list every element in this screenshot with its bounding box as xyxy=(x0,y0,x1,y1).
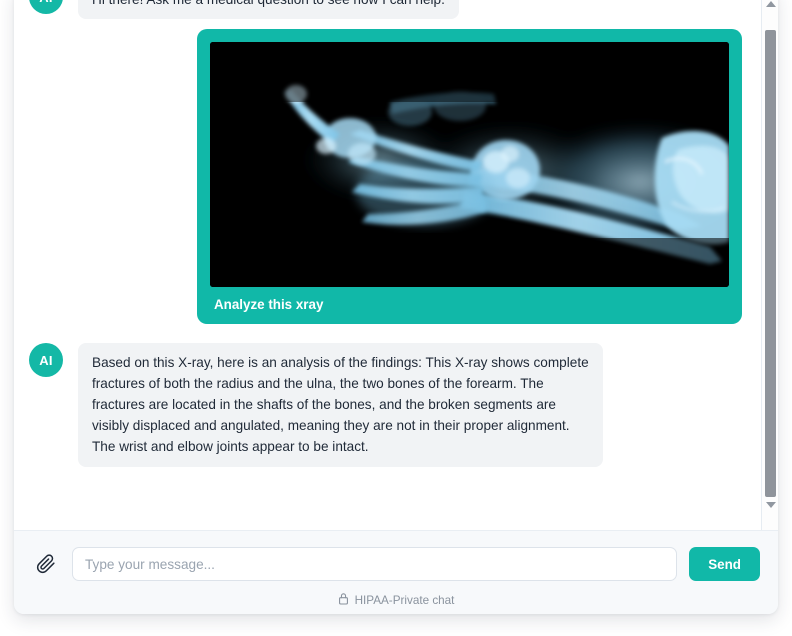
xray-image[interactable] xyxy=(210,42,729,287)
chat-window: AI Hi there! Ask me a medical question t… xyxy=(14,0,778,614)
scroll-up-icon[interactable] xyxy=(762,0,778,12)
scrollbar-thumb[interactable] xyxy=(765,30,776,497)
message-text: Based on this X-ray, here is an analysis… xyxy=(78,343,603,467)
attachment-caption: Analyze this xray xyxy=(210,287,729,324)
messages-list: AI Hi there! Ask me a medical question t… xyxy=(14,0,758,481)
vertical-scrollbar[interactable] xyxy=(761,0,778,530)
privacy-note-row: HIPAA-Private chat xyxy=(32,592,760,608)
message-assistant-analysis: AI Based on this X-ray, here is an analy… xyxy=(14,343,758,467)
composer-row: Send xyxy=(32,547,760,581)
avatar: AI xyxy=(29,0,63,14)
search-input[interactable] xyxy=(72,547,677,581)
scroll-down-icon[interactable] xyxy=(762,497,778,513)
paperclip-icon[interactable] xyxy=(32,550,60,578)
message-text: Hi there! Ask me a medical question to s… xyxy=(78,0,459,19)
lock-icon xyxy=(338,592,349,608)
messages-scroll-area: AI Hi there! Ask me a medical question t… xyxy=(14,0,778,530)
avatar: AI xyxy=(29,343,63,377)
privacy-note-label: HIPAA-Private chat xyxy=(355,594,455,607)
composer: Send HIPAA-Private chat xyxy=(14,530,778,614)
image-attachment-card[interactable]: Analyze this xray xyxy=(197,29,742,324)
message-assistant-greeting: AI Hi there! Ask me a medical question t… xyxy=(14,0,758,19)
send-button[interactable]: Send xyxy=(689,547,760,581)
message-user-attachment: Analyze this xray xyxy=(14,29,758,324)
